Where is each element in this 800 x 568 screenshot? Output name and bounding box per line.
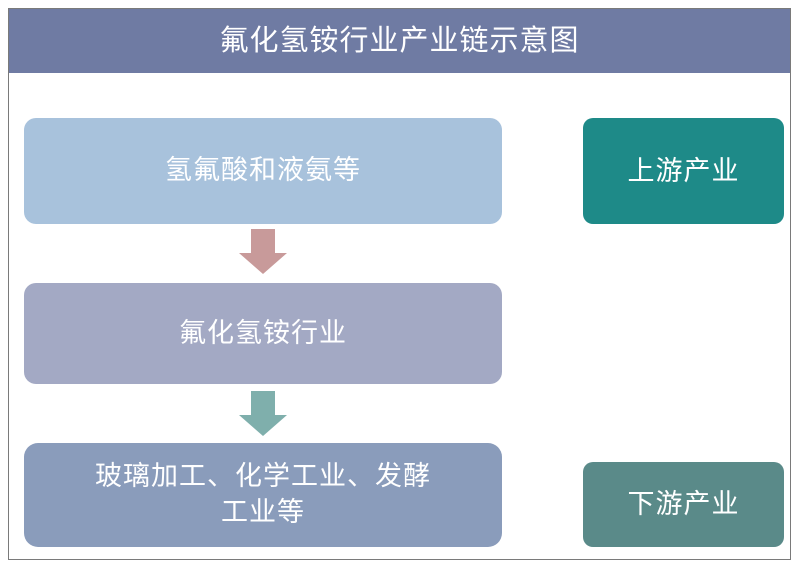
diagram-canvas: 氟化氢铵行业产业链示意图 氢氟酸和液氨等 氟化氢铵行业 玻璃加工、化学工业、发酵… — [0, 0, 800, 568]
chain-node-upstream[interactable]: 氢氟酸和液氨等 — [24, 118, 502, 224]
chain-node-industry[interactable]: 氟化氢铵行业 — [24, 283, 502, 384]
chain-node-upstream-label: 氢氟酸和液氨等 — [165, 153, 361, 189]
chain-node-industry-label: 氟化氢铵行业 — [179, 316, 347, 352]
title-bar: 氟化氢铵行业产业链示意图 — [9, 9, 790, 73]
stage-badge-downstream-label: 下游产业 — [628, 491, 740, 518]
chain-node-downstream[interactable]: 玻璃加工、化学工业、发酵 工业等 — [24, 443, 502, 547]
arrow-down-icon-upstream-to-industry — [237, 229, 289, 275]
page-title: 氟化氢铵行业产业链示意图 — [219, 27, 579, 56]
arrow-down-icon-industry-to-downstream — [237, 391, 289, 437]
stage-badge-upstream[interactable]: 上游产业 — [583, 118, 784, 224]
chain-node-downstream-label: 玻璃加工、化学工业、发酵 工业等 — [95, 459, 431, 530]
stage-badge-downstream[interactable]: 下游产业 — [583, 462, 784, 547]
stage-badge-upstream-label: 上游产业 — [628, 158, 740, 185]
